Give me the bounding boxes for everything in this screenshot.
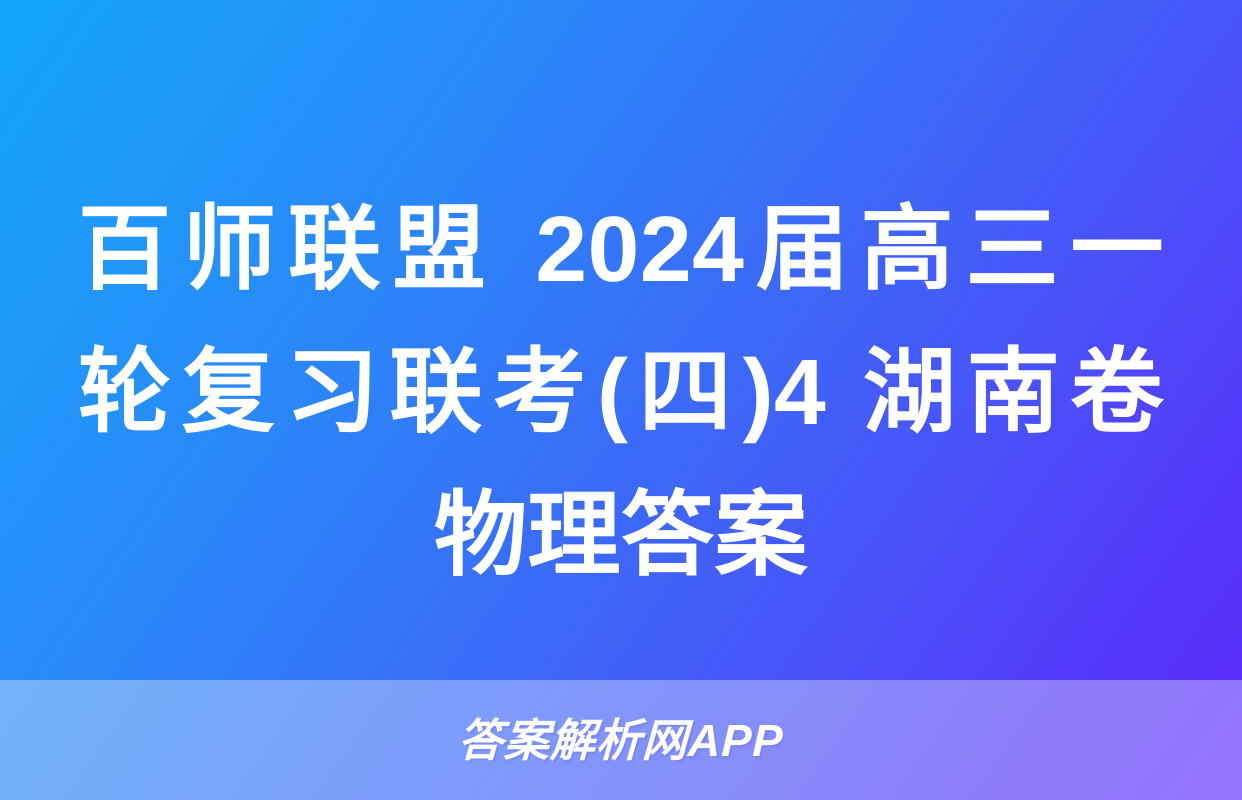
title-line-3: 物理答案 [78, 464, 1164, 607]
title-line-1: 百师联盟 2024届高三一 [78, 178, 1164, 321]
title-line-2: 轮复习联考(四)4 湖南卷 [78, 321, 1164, 464]
app-watermark-label: 答案解析网APP [457, 718, 784, 763]
footer-watermark-band: 答案解析网APP [0, 680, 1242, 800]
poster-canvas: 百师联盟 2024届高三一 轮复习联考(四)4 湖南卷 物理答案 答案解析网AP… [0, 0, 1242, 800]
poster-title-block: 百师联盟 2024届高三一 轮复习联考(四)4 湖南卷 物理答案 [0, 178, 1242, 607]
